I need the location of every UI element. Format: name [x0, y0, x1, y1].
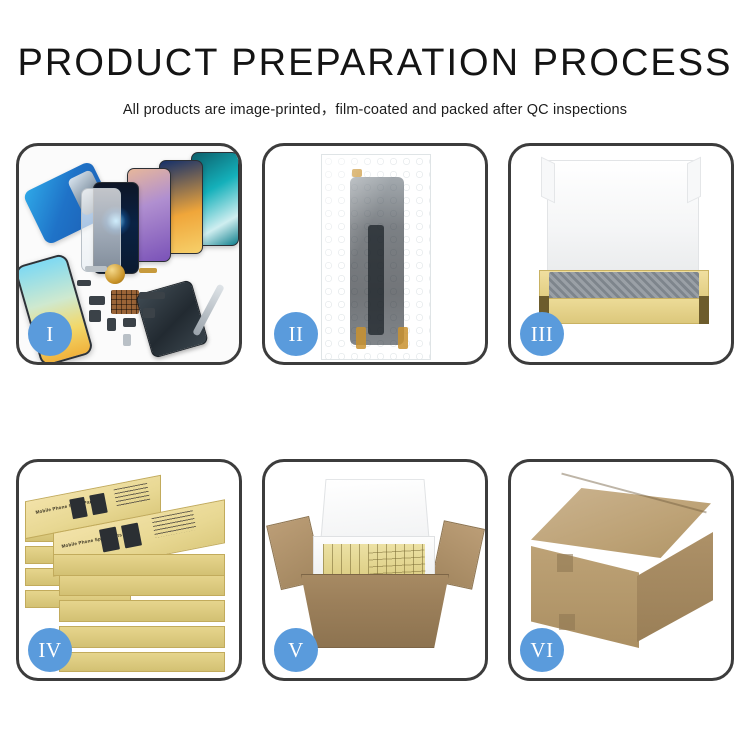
step-2-image: II	[265, 146, 485, 362]
step-badge-5: V	[274, 628, 318, 672]
step-badge-1: I	[28, 312, 72, 356]
process-steps-grid: I II	[16, 143, 734, 681]
step-badge-6: VI	[520, 628, 564, 672]
lid-flap-right	[687, 157, 701, 204]
stacked-box-r2	[59, 600, 225, 622]
part-gold-flex-icon	[139, 268, 157, 273]
part-block-icon	[89, 296, 105, 305]
step-panel-2: II	[262, 143, 488, 365]
part-bar-icon	[77, 280, 91, 286]
bag-sheen	[322, 155, 430, 359]
part-connector-icon	[107, 318, 116, 331]
step-panel-1: I	[16, 143, 242, 365]
page-subtitle: All products are image-printed，film-coat…	[0, 98, 750, 119]
part-battery-icon	[123, 334, 131, 346]
yellow-box-front-icon	[539, 298, 709, 324]
lid-flap-left	[541, 157, 555, 204]
product-preparation-infographic: PRODUCT PREPARATION PROCESS All products…	[0, 0, 750, 750]
step-6-image: VI	[511, 462, 731, 678]
step-3-image: III	[511, 146, 731, 362]
step-badge-2: II	[274, 312, 318, 356]
step-panel-6: VI	[508, 459, 734, 681]
part-strip-icon	[85, 266, 107, 271]
part-small-icon	[123, 318, 136, 327]
page-title: PRODUCT PREPARATION PROCESS	[0, 44, 750, 82]
white-box-lid-icon	[547, 160, 699, 278]
printed-box-front-side	[53, 554, 225, 576]
step-4-image: Mobile Phone Spare Parts Mobile Phone Sp…	[19, 462, 239, 678]
stacked-box-r1	[59, 574, 225, 596]
part-chip-icon	[143, 308, 155, 318]
part-square-icon	[89, 310, 101, 322]
tray-edge-right	[699, 296, 709, 324]
step-panel-3: III	[508, 143, 734, 365]
carton-tape-upper	[557, 554, 573, 572]
step-1-image: I	[19, 146, 239, 362]
bubble-wrap-bag-icon	[321, 154, 431, 360]
step-5-image: V	[265, 462, 485, 678]
stacked-box-r4	[59, 652, 225, 672]
header: PRODUCT PREPARATION PROCESS All products…	[0, 0, 750, 119]
step-panel-5: V	[262, 459, 488, 681]
carton-body-icon	[301, 574, 449, 648]
carton-top-face	[531, 488, 711, 558]
foam-lid-icon	[320, 479, 430, 542]
carton-tape-lower	[559, 614, 575, 630]
chip-array-icon	[111, 290, 139, 314]
screen-protector-icon	[81, 188, 121, 272]
stacked-box-r3	[59, 626, 225, 648]
step-badge-3: III	[520, 312, 564, 356]
copper-coil-icon	[105, 264, 125, 284]
step-panel-4: Mobile Phone Spare Parts Mobile Phone Sp…	[16, 459, 242, 681]
part-flex-cable-icon	[139, 292, 165, 299]
step-badge-4: IV	[28, 628, 72, 672]
